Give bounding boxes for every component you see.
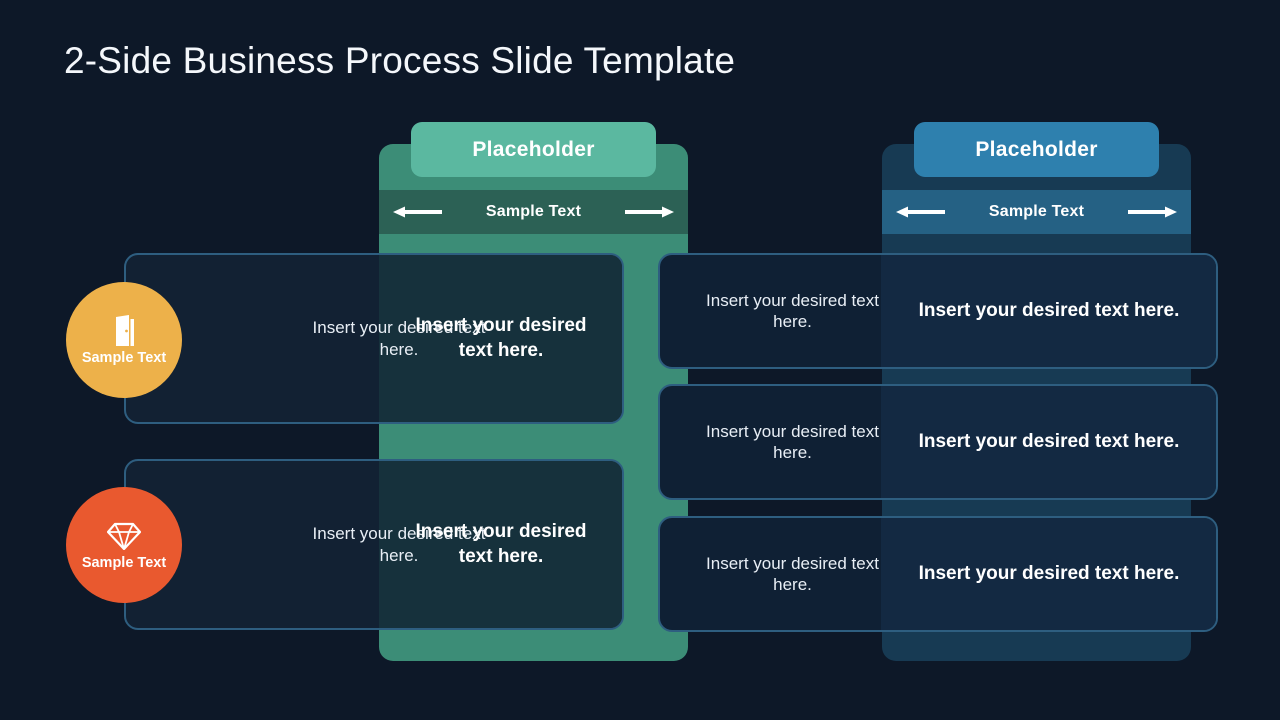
right-row-bold-text: Insert your desired text here. <box>886 386 1212 498</box>
right-row-bold-text: Insert your desired text here. <box>886 255 1212 367</box>
arrow-left-icon <box>391 205 443 219</box>
sample-text-label-left: Sample Text <box>486 203 581 221</box>
left-row-bold-text: Insert your desired text here. <box>384 461 618 628</box>
step-circle-door[interactable]: Sample Text <box>66 282 182 398</box>
right-row-description: Insert your desired text here. <box>700 386 885 498</box>
placeholder-label-left: Placeholder <box>472 138 594 162</box>
right-process-row[interactable]: Insert your desired text here. Insert yo… <box>658 516 1218 632</box>
arrow-right-icon <box>624 205 676 219</box>
left-process-row[interactable]: Insert your desired text here. Insert yo… <box>124 459 624 630</box>
arrow-right-icon <box>1127 205 1179 219</box>
placeholder-label-right: Placeholder <box>975 138 1097 162</box>
sample-text-band-right[interactable]: Sample Text <box>882 190 1191 234</box>
placeholder-pill-right[interactable]: Placeholder <box>914 122 1159 177</box>
right-row-description: Insert your desired text here. <box>700 255 885 367</box>
right-row-bold-text: Insert your desired text here. <box>886 518 1212 630</box>
right-process-row[interactable]: Insert your desired text here. Insert yo… <box>658 253 1218 369</box>
step-circle-label: Sample Text <box>82 350 166 367</box>
left-process-row[interactable]: Insert your desired text here. Insert yo… <box>124 253 624 424</box>
sample-text-label-right: Sample Text <box>989 203 1084 221</box>
page-title: 2-Side Business Process Slide Template <box>64 40 735 82</box>
arrow-left-icon <box>894 205 946 219</box>
step-circle-label: Sample Text <box>82 555 166 572</box>
diamond-icon <box>107 519 141 553</box>
right-process-row[interactable]: Insert your desired text here. Insert yo… <box>658 384 1218 500</box>
door-icon <box>107 314 141 348</box>
sample-text-band-left[interactable]: Sample Text <box>379 190 688 234</box>
placeholder-pill-left[interactable]: Placeholder <box>411 122 656 177</box>
step-circle-diamond[interactable]: Sample Text <box>66 487 182 603</box>
left-row-bold-text: Insert your desired text here. <box>384 255 618 422</box>
right-row-description: Insert your desired text here. <box>700 518 885 630</box>
